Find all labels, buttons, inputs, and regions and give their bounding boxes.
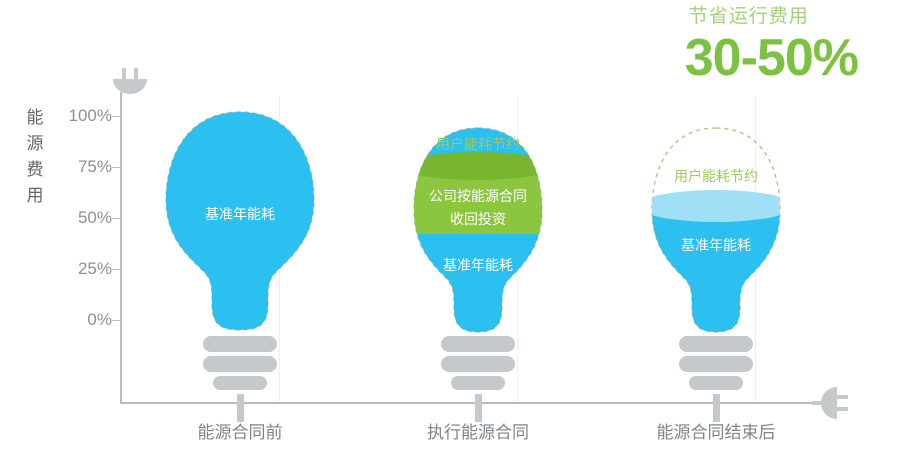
y-tick-mark-100 — [112, 116, 122, 117]
bulb-outline — [398, 124, 558, 339]
y-tick-label: 0% — [48, 310, 112, 330]
bulb-glass: 用户能耗节约 公司按能源合同 收回投资 基准年能耗 — [398, 124, 558, 354]
headline-block: 节省运行费用 30-50% — [685, 4, 858, 86]
power-plug-icon — [111, 68, 149, 98]
bulb-fill-group — [636, 190, 796, 339]
power-plug-icon — [812, 385, 850, 421]
y-tick-mark-50 — [112, 218, 122, 219]
bulb-after-contract: 用户能耗节约 基准年能耗 — [636, 124, 796, 354]
bulb-outline — [636, 124, 796, 339]
base-ring-3 — [451, 376, 505, 390]
headline-subtitle: 节省运行费用 — [689, 4, 858, 30]
base-ring-2 — [203, 356, 277, 372]
base-ring-3 — [689, 376, 743, 390]
y-tick-mark-0 — [112, 320, 122, 321]
y-axis-title: 能源费用 — [24, 105, 46, 209]
fill-baseline — [636, 206, 796, 339]
base-ring-2 — [441, 356, 515, 372]
base-ring-3 — [213, 376, 267, 390]
bulb-before-contract: 基准年能耗 — [160, 108, 320, 338]
base-ring-1 — [203, 336, 277, 352]
base-ring-2 — [679, 356, 753, 372]
bulb-outline — [160, 108, 320, 338]
y-tick-label: 100% — [48, 106, 112, 126]
x-category-label-0: 能源合同前 — [140, 418, 340, 443]
bulb-base — [433, 336, 523, 422]
y-axis-line — [120, 92, 122, 404]
y-tick-mark-25 — [112, 269, 122, 270]
infographic-canvas: 节省运行费用 30-50% 能源费用 100% 75% 50% 25% 0% — [0, 0, 900, 473]
bulb-during-contract: 用户能耗节约 公司按能源合同 收回投资 基准年能耗 — [398, 124, 558, 354]
bulb-glass: 用户能耗节约 基准年能耗 — [636, 124, 796, 354]
x-category-label-1: 执行能源合同 — [378, 418, 578, 443]
base-ring-1 — [679, 336, 753, 352]
fill-liquid-surface — [638, 190, 794, 222]
y-tick-label: 25% — [48, 259, 112, 279]
x-category-label-2: 能源合同结束后 — [616, 418, 816, 443]
bulb-fill-group — [398, 124, 558, 339]
bulb-base — [671, 336, 761, 422]
fill-baseline — [160, 108, 320, 338]
fill-green-top-surface — [400, 152, 556, 180]
y-tick-label: 75% — [48, 157, 112, 177]
bulb-base — [195, 336, 285, 422]
headline-value: 30-50% — [685, 30, 858, 86]
y-tick-label: 50% — [48, 208, 112, 228]
bulb-fill-group — [160, 108, 320, 338]
y-tick-mark-75 — [112, 167, 122, 168]
base-ring-1 — [441, 336, 515, 352]
bulb-glass: 基准年能耗 — [160, 108, 320, 338]
